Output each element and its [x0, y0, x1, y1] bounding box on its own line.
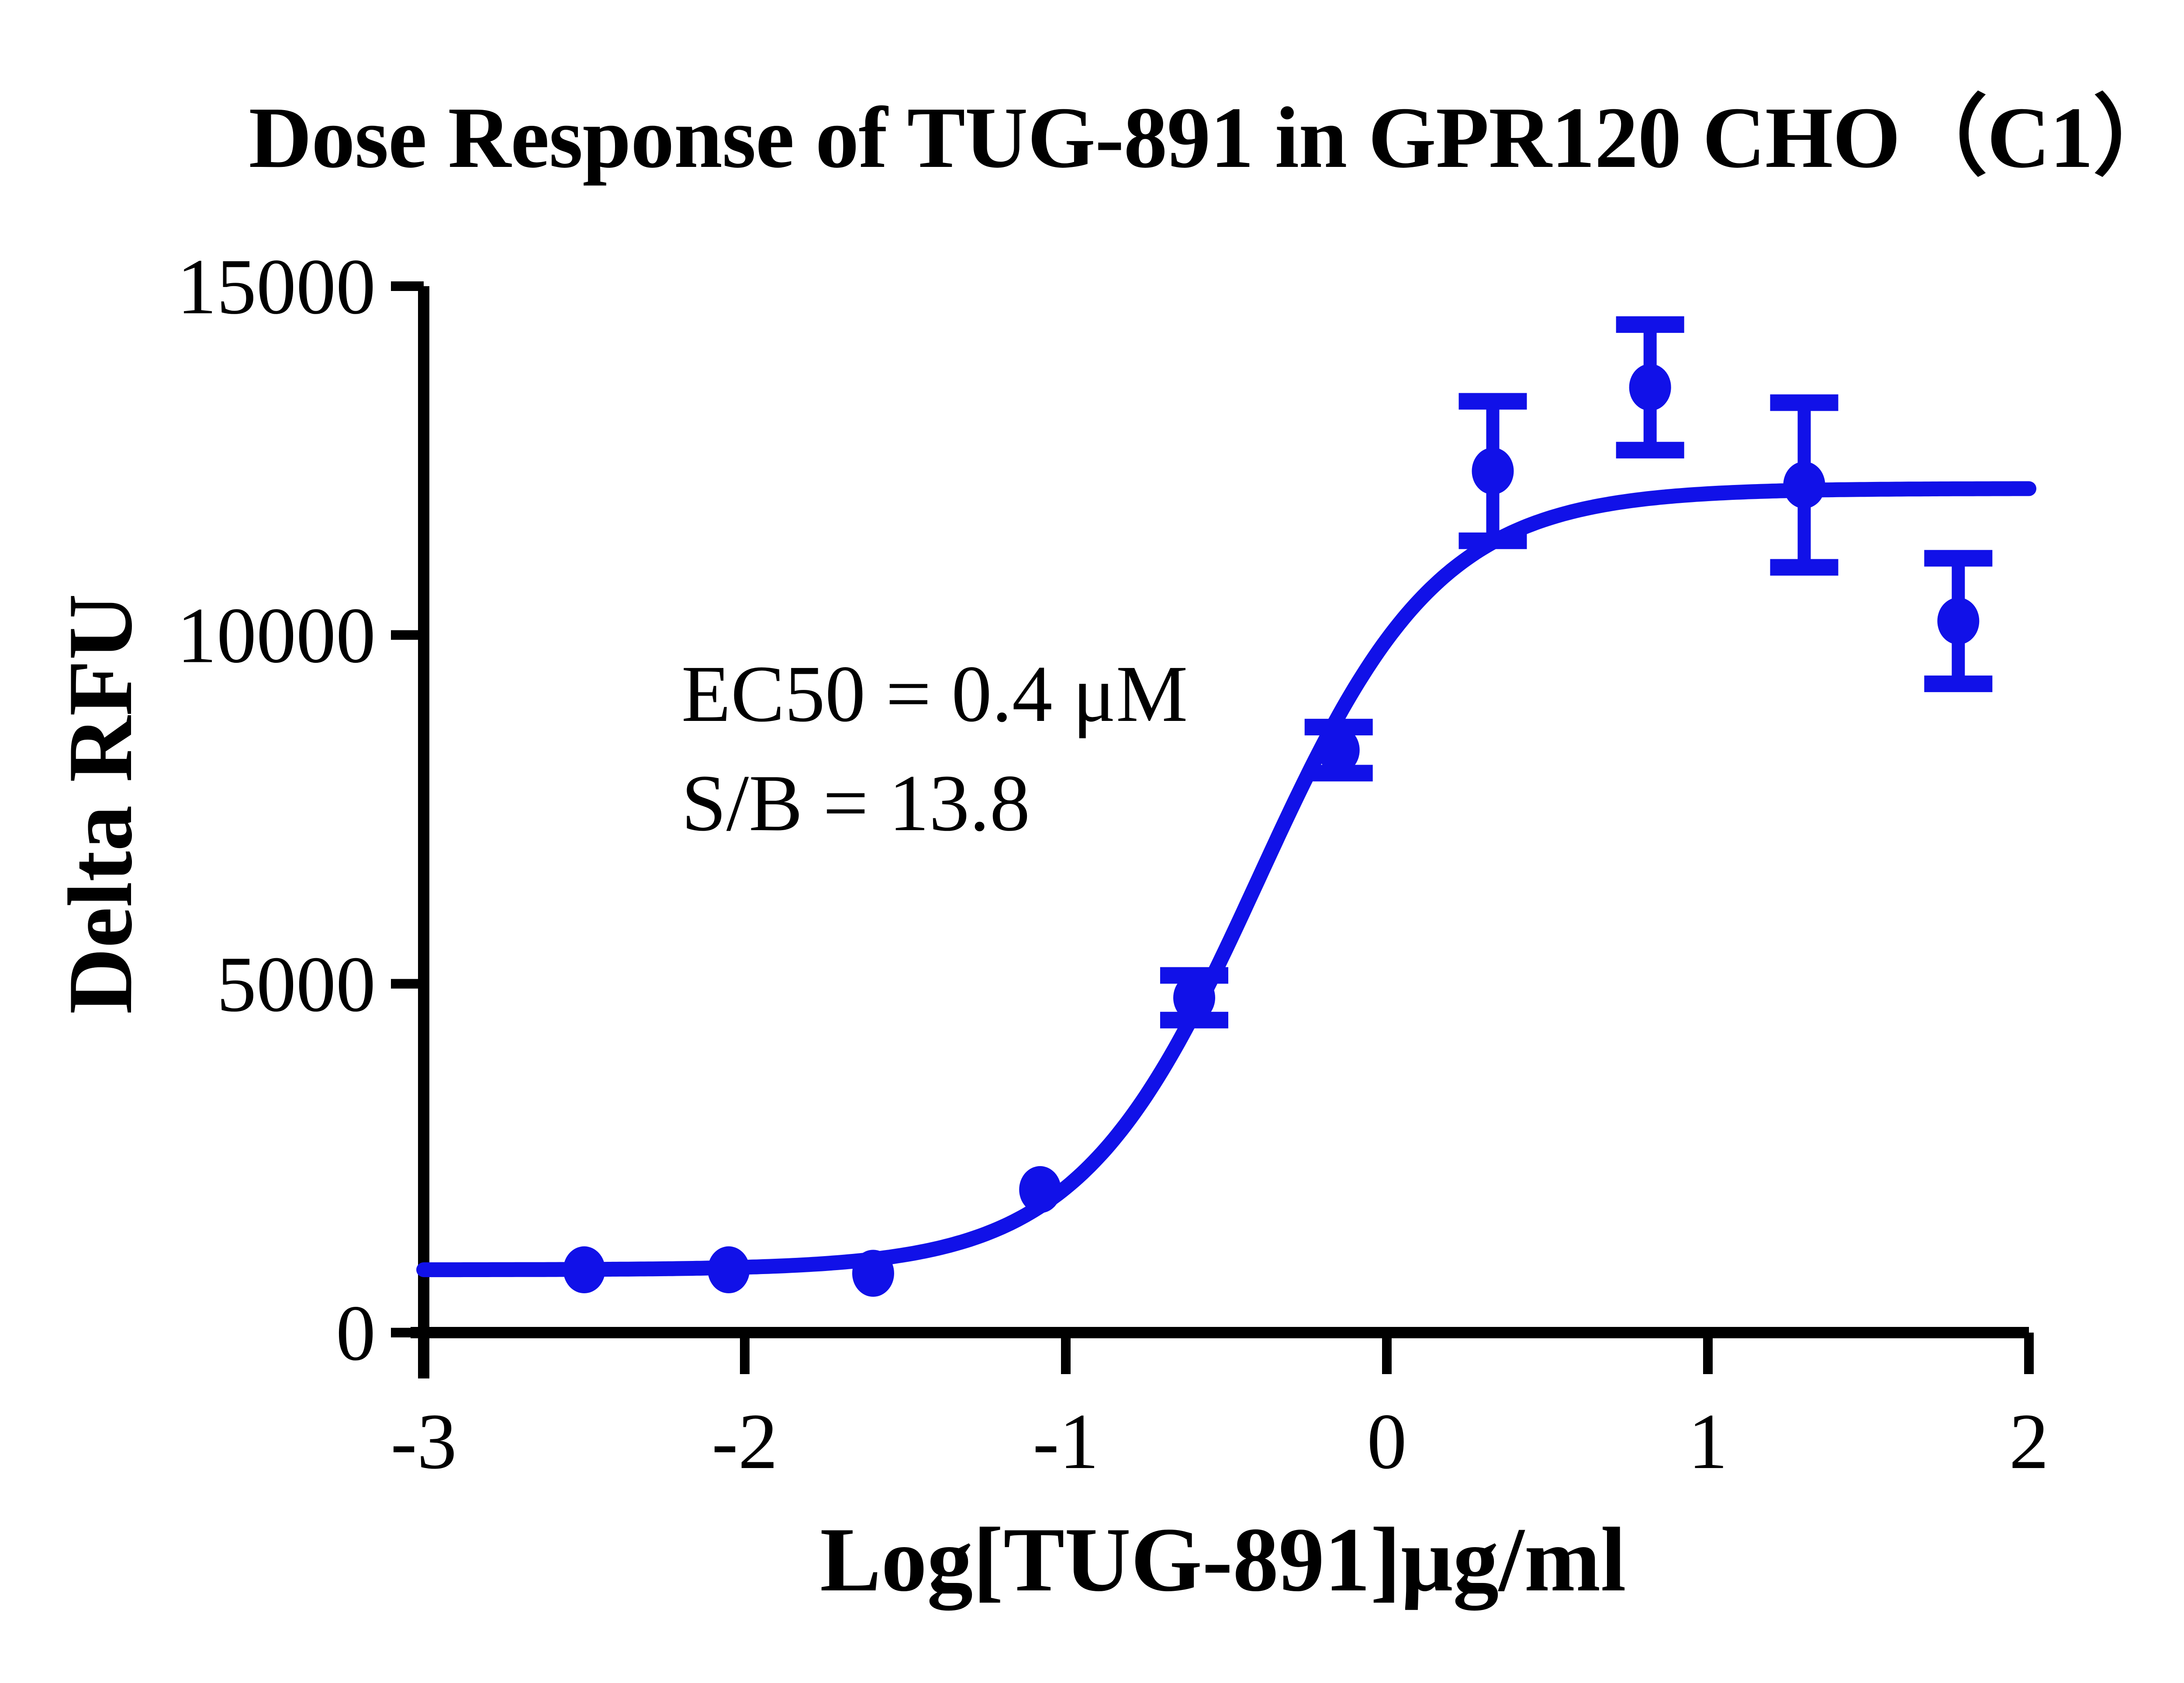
data-point-marker — [1629, 364, 1671, 411]
y-tick-labels: 050001000015000 — [177, 243, 376, 1377]
data-point-marker — [1472, 447, 1514, 495]
y-tick-label: 0 — [336, 1289, 376, 1377]
error-bars-group — [1160, 325, 1992, 1020]
fit-curve — [424, 488, 2029, 1270]
data-point-marker — [1318, 727, 1360, 774]
x-tick-label: -3 — [390, 1398, 457, 1486]
annotation-ec50: EC50 = 0.4 μM — [681, 649, 1188, 739]
figure-root: Dose Response of TUG-891 in GPR120 CHO（C… — [0, 0, 2184, 1683]
data-point-marker — [708, 1247, 750, 1294]
ticks-group — [391, 286, 2029, 1374]
x-tick-label: 2 — [2009, 1398, 2049, 1486]
data-point-marker — [852, 1250, 894, 1297]
annotation-sb: S/B = 13.8 — [681, 758, 1030, 848]
data-point-marker — [1783, 461, 1825, 509]
x-tick-label: 1 — [1688, 1398, 1728, 1486]
fit-curve-group — [424, 488, 2029, 1270]
data-point-marker — [1173, 974, 1215, 1022]
data-point-marker — [563, 1247, 605, 1294]
x-tick-label: 0 — [1367, 1398, 1407, 1486]
y-tick-label: 5000 — [217, 941, 376, 1028]
x-tick-label: -1 — [1033, 1398, 1099, 1486]
plot-canvas: 050001000015000 -3-2-1012 Delta RFU Log[… — [0, 0, 2184, 1683]
x-tick-labels: -3-2-1012 — [390, 1398, 2049, 1486]
data-point-marker — [1019, 1166, 1061, 1213]
x-tick-label: -2 — [712, 1398, 778, 1486]
data-point-marker — [1937, 598, 1979, 645]
y-tick-label: 15000 — [177, 243, 376, 331]
x-axis-title: Log[TUG-891]μg/ml — [820, 1509, 1626, 1610]
y-tick-label: 10000 — [177, 592, 376, 679]
axes-group — [411, 286, 2029, 1378]
y-axis-title: Delta RFU — [50, 594, 151, 1014]
